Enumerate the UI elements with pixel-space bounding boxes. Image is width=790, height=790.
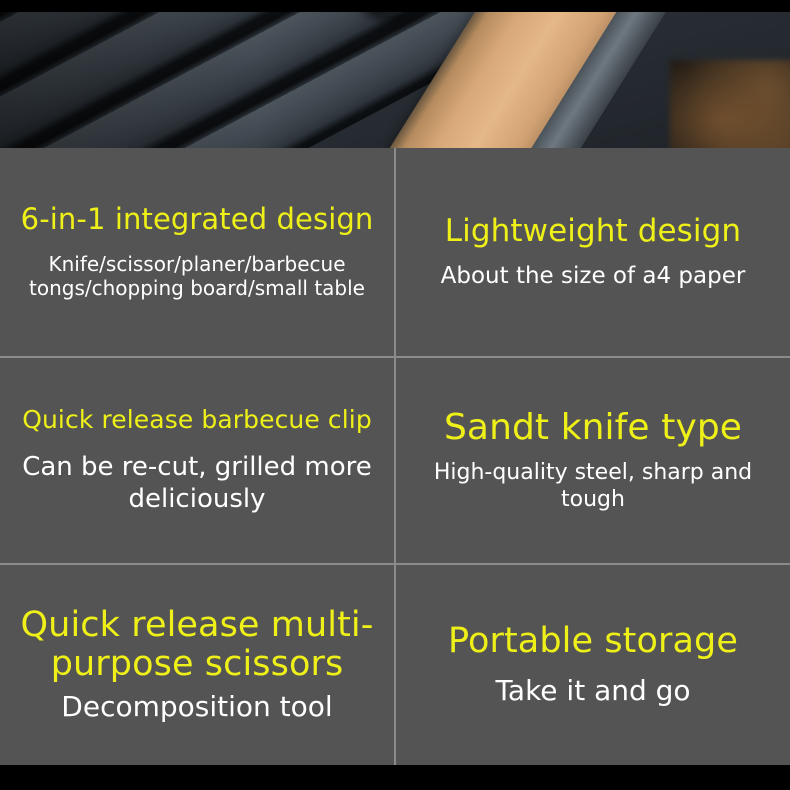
- hero-left-vignette: [0, 0, 260, 150]
- feature-cell-quick-release-scissors: Quick release multi-purpose scissors Dec…: [0, 565, 394, 765]
- feature-heading: 6-in-1 integrated design: [21, 203, 374, 235]
- feature-cell-quick-release-clip: Quick release barbecue clip Can be re-cu…: [0, 358, 394, 563]
- feature-cell-portable-storage: Portable storage Take it and go: [396, 565, 790, 765]
- feature-subtitle: Decomposition tool: [61, 690, 332, 724]
- product-feature-page: 6-in-1 integrated design Knife/scissor/p…: [0, 0, 790, 790]
- hero-product-photo: [0, 0, 790, 150]
- feature-grid: 6-in-1 integrated design Knife/scissor/p…: [0, 148, 790, 765]
- feature-cell-six-in-one: 6-in-1 integrated design Knife/scissor/p…: [0, 148, 394, 356]
- feature-subtitle: Take it and go: [495, 674, 690, 708]
- feature-cell-lightweight: Lightweight design About the size of a4 …: [396, 148, 790, 356]
- blurred-foliage-graphic: [670, 60, 790, 150]
- feature-heading: Quick release barbecue clip: [22, 406, 372, 434]
- feature-heading: Quick release multi-purpose scissors: [12, 606, 382, 684]
- letterbox-bottom: [0, 765, 790, 790]
- feature-heading: Lightweight design: [445, 214, 741, 249]
- hero-photo-scene: [0, 0, 790, 150]
- feature-heading: Portable storage: [448, 622, 738, 661]
- feature-subtitle: High-quality steel, sharp and tough: [408, 460, 778, 514]
- feature-subtitle: Knife/scissor/planer/barbecue tongs/chop…: [12, 252, 382, 301]
- feature-cell-sandt-knife: Sandt knife type High-quality steel, sha…: [396, 358, 790, 563]
- letterbox-top: [0, 0, 790, 12]
- feature-subtitle: Can be re-cut, grilled more deliciously: [12, 452, 382, 515]
- feature-subtitle: About the size of a4 paper: [441, 262, 746, 290]
- feature-heading: Sandt knife type: [444, 408, 742, 448]
